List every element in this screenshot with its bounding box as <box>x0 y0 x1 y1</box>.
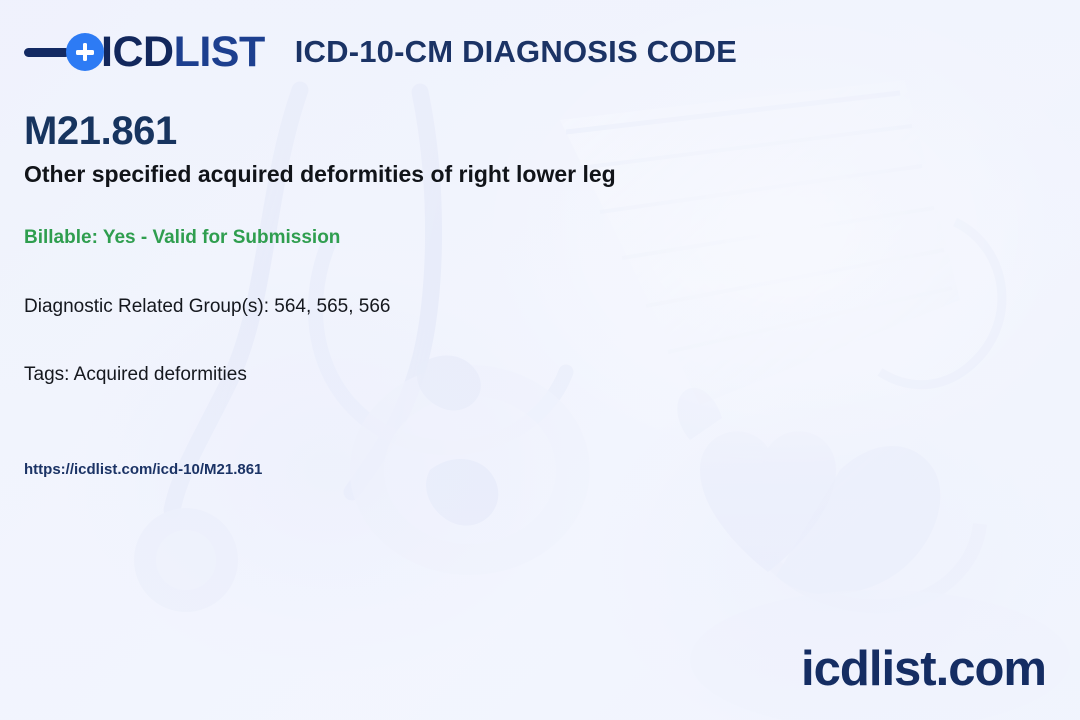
icd-code-card: ICD LIST ICD-10-CM DIAGNOSIS CODE M21.86… <box>0 0 1080 720</box>
logo-text-list: LIST <box>174 31 265 74</box>
page-title: ICD-10-CM DIAGNOSIS CODE <box>295 34 737 70</box>
billable-status: Billable: Yes - Valid for Submission <box>24 227 884 250</box>
source-url[interactable]: https://icdlist.com/icd-10/M21.861 <box>24 461 884 479</box>
tags-line: Tags: Acquired deformities <box>24 364 884 387</box>
dash-icon <box>24 48 70 57</box>
diagnostic-related-groups: Diagnostic Related Group(s): 564, 565, 5… <box>24 296 884 319</box>
diagnosis-description: Other specified acquired deformities of … <box>24 161 884 189</box>
plus-circle-icon <box>66 33 104 71</box>
diagnosis-code: M21.861 <box>24 110 884 153</box>
code-details: M21.861 Other specified acquired deformi… <box>24 110 884 479</box>
header: ICD LIST ICD-10-CM DIAGNOSIS CODE <box>24 26 737 78</box>
logo-text-icd: ICD <box>101 31 174 74</box>
icdlist-logo[interactable]: ICD LIST <box>24 26 265 78</box>
site-watermark: icdlist.com <box>801 645 1046 694</box>
